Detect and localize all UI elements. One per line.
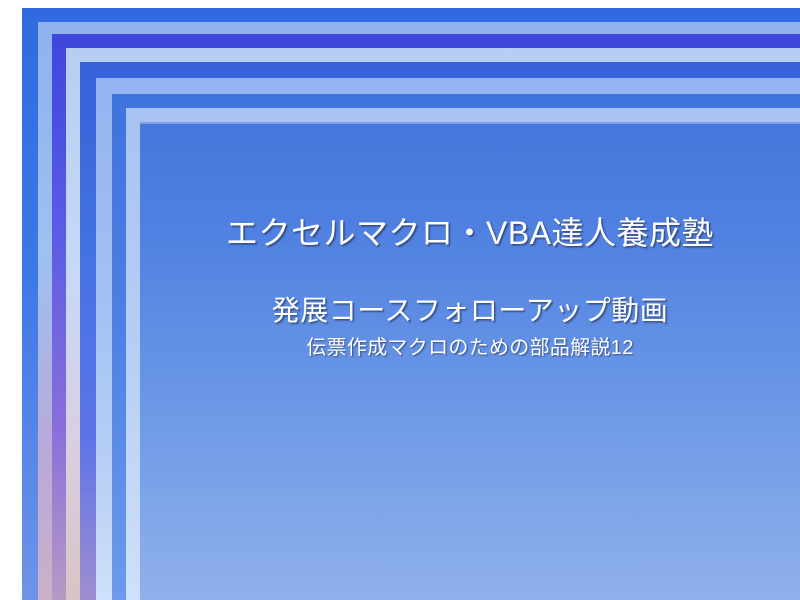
title-slide: エクセルマクロ・VBA達人養成塾 発展コースフォローアップ動画 伝票作成マクロの… bbox=[0, 0, 800, 600]
title-text-block: エクセルマクロ・VBA達人養成塾 発展コースフォローアップ動画 伝票作成マクロの… bbox=[140, 122, 800, 361]
slide-subtitle-secondary: 伝票作成マクロのための部品解説12 bbox=[140, 336, 800, 361]
slide-subtitle: 発展コースフォローアップ動画 bbox=[140, 294, 800, 328]
slide-title: エクセルマクロ・VBA達人養成塾 bbox=[140, 214, 800, 252]
